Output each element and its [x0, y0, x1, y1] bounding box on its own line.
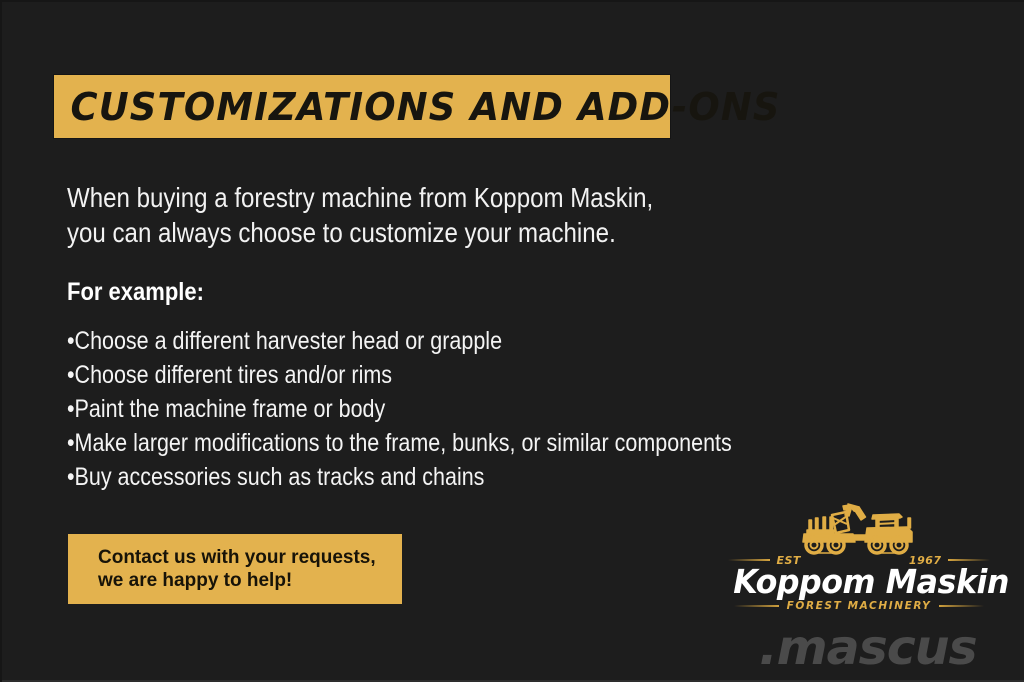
list-item-label: Buy accessories such as tracks and chain… — [75, 463, 485, 491]
logo-tagline-row: FOREST MACHINERY — [734, 600, 984, 612]
logo-rule-left — [728, 559, 770, 561]
list-item: •Choose different tires and/or rims — [67, 358, 732, 392]
logo-wordmark: Koppom Maskin — [733, 562, 985, 601]
logo-rule-right — [948, 559, 990, 561]
mascus-watermark: .mascus — [759, 620, 977, 676]
list-item-label: Make larger modifications to the frame, … — [75, 429, 732, 457]
contact-line-2: we are happy to help! — [98, 569, 402, 592]
slide-root: CUSTOMIZATIONS AND ADD-ONS When buying a… — [0, 0, 1024, 682]
list-item: •Choose a different harvester head or gr… — [67, 324, 732, 358]
logo-tagline: FOREST MACHINERY — [787, 600, 932, 612]
koppom-maskin-logo: EST 1967 Koppom Maskin FOREST MACHINERY — [728, 500, 990, 612]
logo-est-label: EST — [776, 554, 800, 567]
contact-line-1: Contact us with your requests, — [98, 546, 402, 569]
list-item: •Paint the machine frame or body — [67, 392, 732, 426]
bullet-dot-icon: • — [67, 392, 75, 426]
list-item: •Make larger modifications to the frame,… — [67, 426, 732, 460]
list-item-label: Choose different tires and/or rims — [75, 361, 392, 389]
bullet-dot-icon: • — [67, 460, 75, 494]
list-item: •Buy accessories such as tracks and chai… — [67, 460, 732, 494]
for-example-label: For example: — [67, 278, 204, 307]
feature-bullet-list: •Choose a different harvester head or gr… — [67, 324, 732, 494]
logo-tagline-rule-left — [734, 605, 779, 607]
bullet-dot-icon: • — [67, 426, 75, 460]
logo-est-year: 1967 — [909, 554, 942, 567]
logo-tagline-rule-right — [939, 605, 984, 607]
intro-line-1: When buying a forestry machine from Kopp… — [67, 180, 686, 215]
page-title: CUSTOMIZATIONS AND ADD-ONS — [54, 85, 781, 129]
bullet-dot-icon: • — [67, 324, 75, 358]
intro-line-2: you can always choose to customize your … — [67, 215, 686, 250]
bullet-dot-icon: • — [67, 358, 75, 392]
forestry-forwarder-icon — [784, 500, 934, 556]
list-item-label: Paint the machine frame or body — [75, 395, 386, 423]
title-banner: CUSTOMIZATIONS AND ADD-ONS — [54, 75, 670, 138]
list-item-label: Choose a different harvester head or gra… — [75, 327, 503, 355]
contact-cta-box[interactable]: Contact us with your requests, we are ha… — [68, 534, 402, 604]
intro-paragraph: When buying a forestry machine from Kopp… — [67, 180, 686, 250]
